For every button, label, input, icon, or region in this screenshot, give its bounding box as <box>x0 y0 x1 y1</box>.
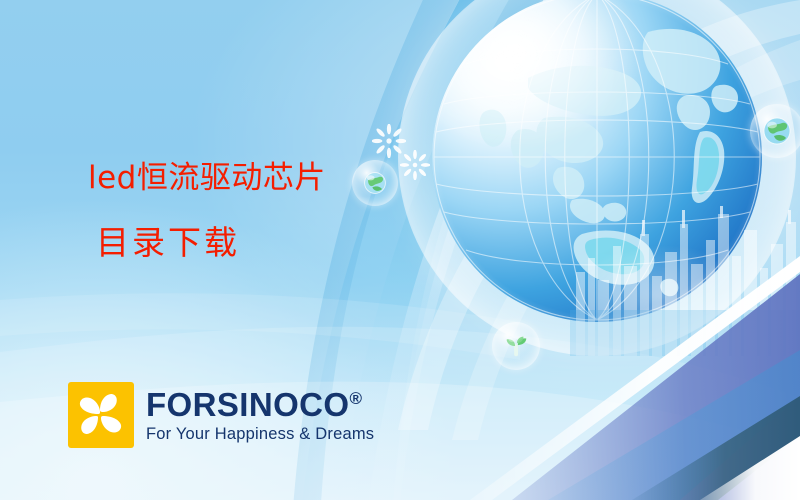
globe-sphere-icon <box>352 160 398 206</box>
promo-banner: led恒流驱动芯片 目录下载 FORSINOCO® For Your Happi… <box>0 0 800 500</box>
headline-line-2: 目录下载 <box>96 226 240 259</box>
corner-diagonal-bands <box>280 200 800 500</box>
bubble-mid-left <box>352 160 398 206</box>
headline-line-1: led恒流驱动芯片 <box>88 163 326 194</box>
four-petal-pinwheel-icon <box>68 382 134 448</box>
globe-sphere-icon <box>750 104 800 158</box>
logo-wordmark: FORSINOCO® <box>146 388 374 421</box>
bubble-top-right <box>750 104 800 158</box>
green-sprout-icon <box>492 322 540 370</box>
bubble-lower <box>492 322 540 370</box>
registered-trademark-icon: ® <box>349 389 362 408</box>
sparkle-lower-icon <box>400 150 430 180</box>
company-logo[interactable]: FORSINOCO® For Your Happiness & Dreams <box>68 382 374 448</box>
logo-tagline: For Your Happiness & Dreams <box>146 426 374 443</box>
logo-name-text: FORSINOCO <box>146 386 349 423</box>
